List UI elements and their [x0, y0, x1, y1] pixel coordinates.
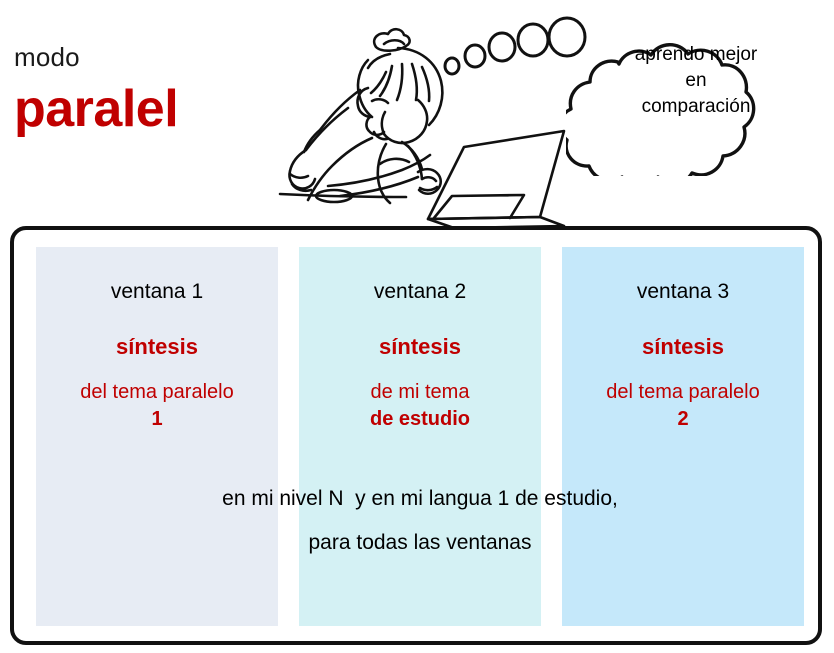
window-1-heading: síntesis — [36, 334, 278, 360]
window-3-description: del tema paralelo 2 — [562, 379, 804, 433]
title-kicker: modo — [14, 42, 264, 72]
window-2-description: de mi tema de estudio — [299, 379, 541, 433]
window-3-heading: síntesis — [562, 334, 804, 360]
window-3-title: ventana 3 — [562, 280, 804, 304]
title-block: modo paralel — [14, 42, 264, 138]
window-2-title: ventana 2 — [299, 280, 541, 304]
window-3-desc-text: del tema paralelo — [606, 381, 759, 403]
page-title: paralel — [14, 80, 264, 138]
header: modo paralel — [0, 0, 834, 228]
window-1-title: ventana 1 — [36, 280, 278, 304]
thought-bubble-line-3: comparación — [566, 94, 826, 120]
window-2-heading: síntesis — [299, 334, 541, 360]
window-1-desc-number: 1 — [36, 406, 278, 433]
thought-bubble-line-1: aprendo mejor — [566, 42, 826, 68]
window-3-desc-number: 2 — [562, 406, 804, 433]
windows-columns: ventana 1 síntesis del tema paralelo 1 v… — [36, 247, 804, 626]
window-1-description: del tema paralelo 1 — [36, 379, 278, 433]
window-2-desc-number: de estudio — [299, 406, 541, 433]
thought-bubble-line-2: en — [566, 68, 826, 94]
window-column-1[interactable]: ventana 1 síntesis del tema paralelo 1 — [36, 247, 278, 626]
windows-panel: ventana 1 síntesis del tema paralelo 1 v… — [10, 226, 822, 645]
window-2-desc-text: de mi tema — [371, 381, 470, 403]
thought-bubble-text: aprendo mejor en comparación — [566, 42, 826, 120]
window-column-3[interactable]: ventana 3 síntesis del tema paralelo 2 — [562, 247, 804, 626]
window-1-desc-text: del tema paralelo — [80, 381, 233, 403]
window-column-2[interactable]: ventana 2 síntesis de mi tema de estudio — [299, 247, 541, 626]
